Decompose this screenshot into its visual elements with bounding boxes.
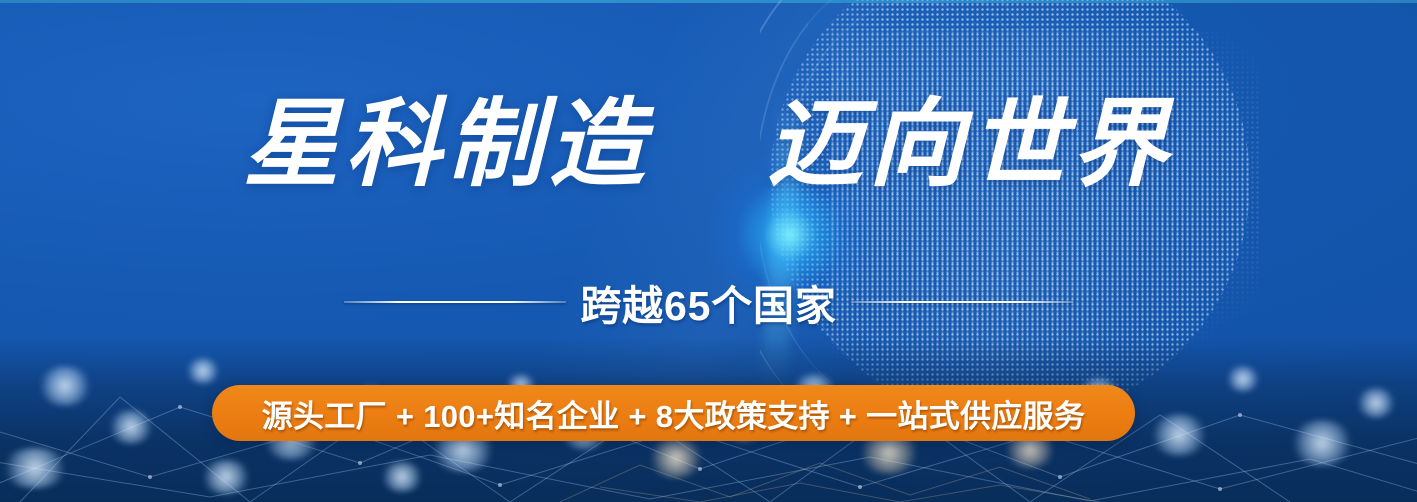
divider-rule-right [851,301,1073,303]
banner-content: 星科制造 迈向世界 跨越65个国家 源头工厂 + 100+知名企业 + 8大政策… [0,0,1417,502]
highlight-pill[interactable]: 源头工厂 + 100+知名企业 + 8大政策支持 + 一站式供应服务 [212,385,1135,441]
highlight-pill-label: 源头工厂 + 100+知名企业 + 8大政策支持 + 一站式供应服务 [262,391,1086,436]
headline-part-2: 迈向世界 [767,87,1174,200]
banner-subtitle: 跨越65个国家 [580,272,836,332]
promo-banner: 星科制造 迈向世界 跨越65个国家 源头工厂 + 100+知名企业 + 8大政策… [0,0,1417,502]
divider-rule-left [344,301,566,303]
banner-headline: 星科制造 迈向世界 [0,96,1417,192]
headline-part-1: 星科制造 [243,87,650,200]
subtitle-row: 跨越65个国家 [0,272,1417,332]
